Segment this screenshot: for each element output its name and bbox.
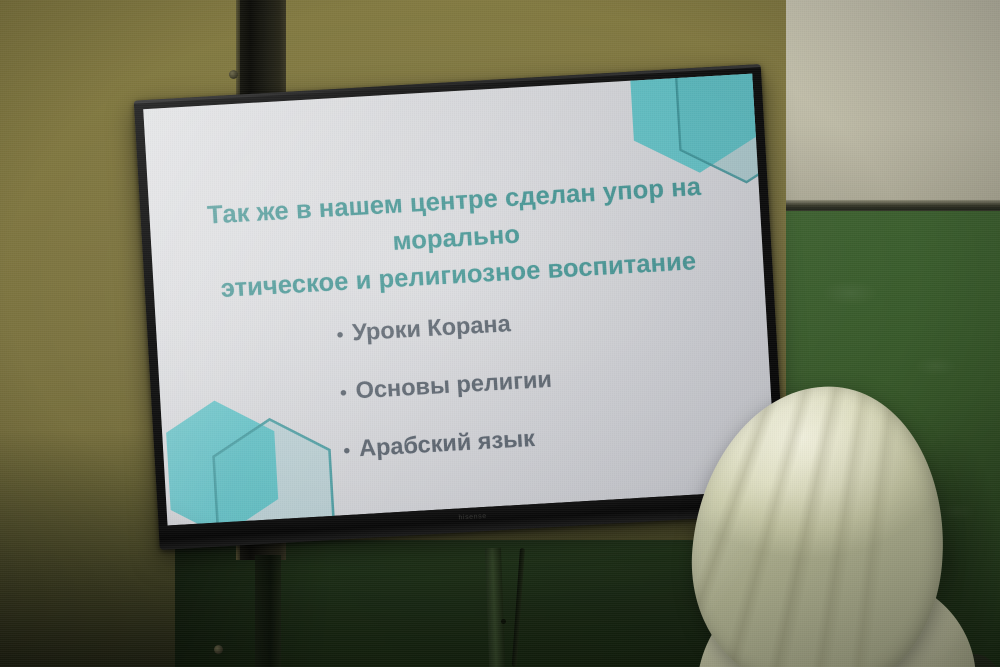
wall-screw-lower [214, 645, 223, 654]
presentation-slide: Так же в нашем центре сделан упор на мор… [143, 74, 776, 526]
tv-screen: Так же в нашем центре сделан упор на мор… [143, 74, 776, 526]
slide-bullet-list: • Уроки Корана • Основы религии • Арабск… [336, 298, 736, 494]
right-wall-green [786, 211, 1000, 667]
bullet-text: Уроки Корана [352, 310, 512, 346]
bullet-text: Основы религии [355, 366, 553, 404]
bullet-marker-icon: • [340, 384, 348, 403]
pole-fitting [501, 619, 506, 624]
slide-title: Так же в нашем центре сделан упор на мор… [149, 165, 764, 312]
wall-screw-upper [229, 70, 238, 79]
bullet-item: • Основы религии [339, 355, 730, 405]
upper-wall-band [786, 0, 1000, 208]
hexagon-cluster-bottom-left-icon [163, 376, 341, 526]
bullet-marker-icon: • [343, 442, 351, 461]
bullet-text: Арабский язык [358, 425, 535, 462]
bullet-marker-icon: • [336, 326, 344, 345]
photo-scene: Так же в нашем центре сделан упор на мор… [0, 0, 1000, 667]
tv-display: Так же в нашем центре сделан упор на мор… [134, 64, 787, 550]
bullet-item: • Арабский язык [343, 413, 734, 463]
mount-post-lower [255, 555, 281, 667]
bullet-item: • Уроки Корана [336, 298, 727, 348]
tv-brand-logo: hisense [458, 513, 487, 522]
